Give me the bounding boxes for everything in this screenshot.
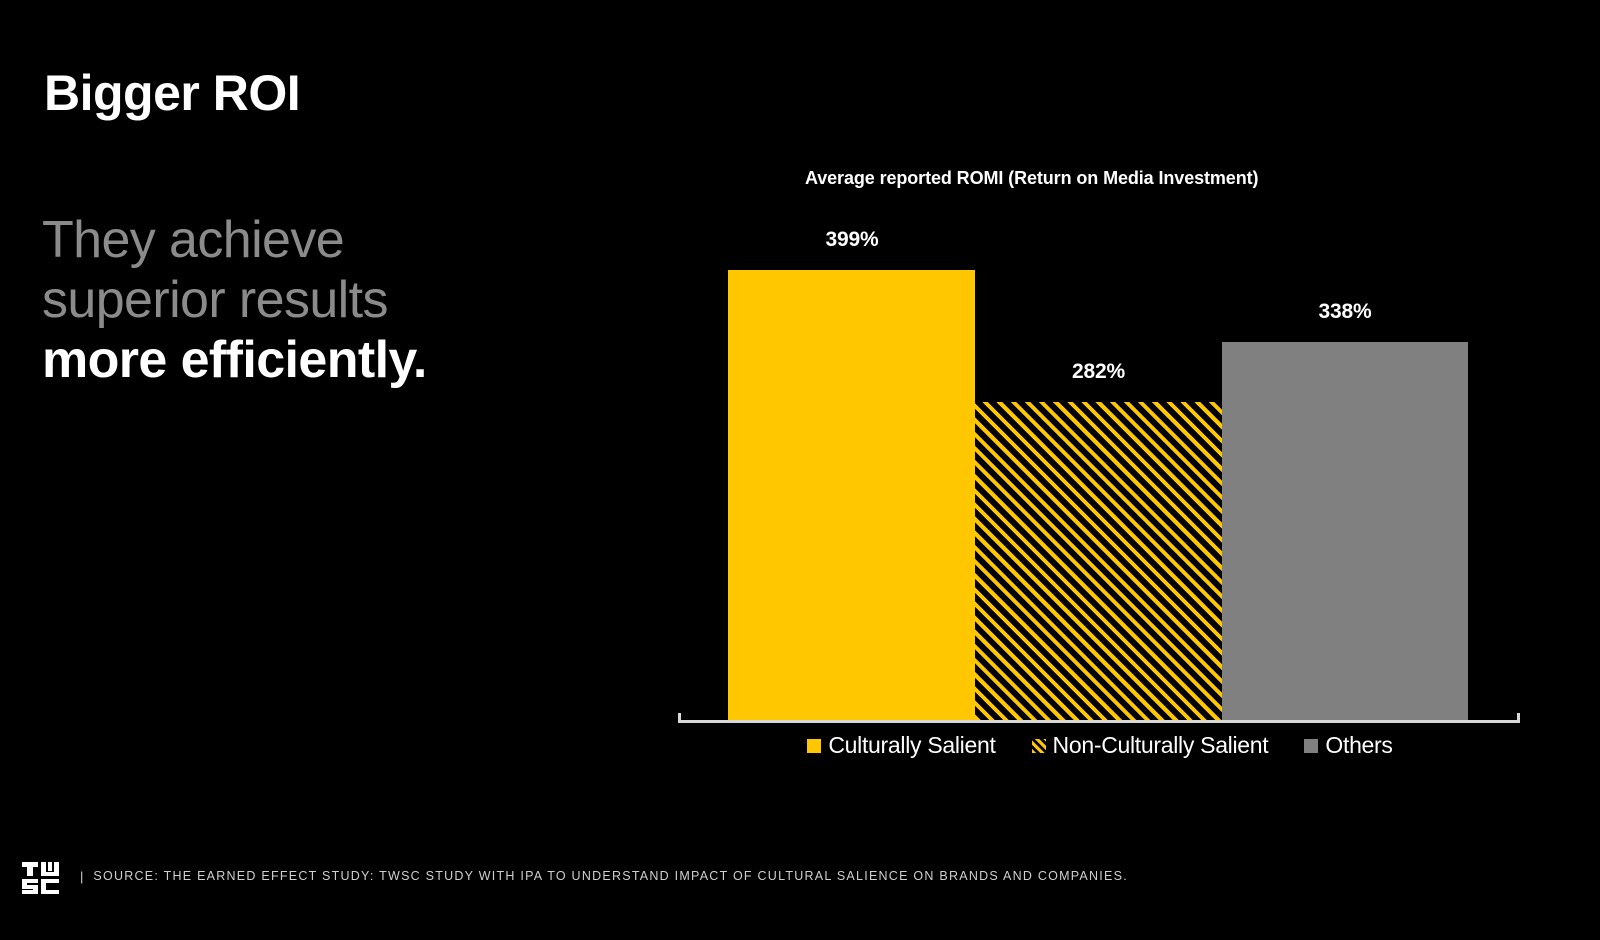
legend-label-culturally-salient: Culturally Salient (828, 732, 995, 759)
legend-label-non-culturally-salient: Non-Culturally Salient (1053, 732, 1269, 759)
bar-non-culturally-salient[interactable] (975, 402, 1222, 720)
axis-tick-right (1517, 713, 1520, 723)
subheadline: They achieve superior results more effic… (42, 210, 427, 390)
chart-baseline-axis (678, 720, 1520, 723)
solid-yellow-swatch-icon (807, 739, 821, 753)
subheadline-period: . (413, 331, 427, 389)
bar-culturally-salient[interactable] (728, 270, 975, 720)
legend-label-others: Others (1325, 732, 1392, 759)
legend-item-non-culturally-salient[interactable]: Non-Culturally Salient (1032, 732, 1269, 759)
chart-legend: Culturally Salient Non-Culturally Salien… (660, 732, 1540, 759)
subheadline-line-3: more efficiently. (42, 330, 427, 390)
bar-chart: Average reported ROMI (Return on Media I… (660, 150, 1540, 770)
footer-separator: | (80, 869, 83, 884)
footer: | SOURCE: THE EARNED EFFECT STUDY: TWSC … (18, 854, 1128, 898)
bar-label-non-culturally-salient: 282% (975, 360, 1222, 384)
slide-root: Bigger ROI They achieve superior results… (0, 0, 1600, 940)
solid-gray-swatch-icon (1304, 739, 1318, 753)
axis-tick-left (678, 713, 681, 723)
subheadline-line-2: superior results (42, 270, 427, 330)
chart-plot-area: 399% 282% 338% (660, 150, 1540, 720)
subheadline-accent: more efficiently (42, 331, 413, 389)
hatched-yellow-swatch-icon (1032, 739, 1046, 753)
bar-label-culturally-salient: 399% (728, 228, 976, 252)
bar-others[interactable] (1222, 342, 1468, 720)
page-title: Bigger ROI (44, 66, 300, 121)
subheadline-line-1: They achieve (42, 210, 427, 270)
twsc-logo-icon (18, 854, 62, 898)
legend-item-others[interactable]: Others (1304, 732, 1392, 759)
legend-item-culturally-salient[interactable]: Culturally Salient (807, 732, 995, 759)
bar-label-others: 338% (1222, 300, 1468, 324)
source-note: SOURCE: THE EARNED EFFECT STUDY: TWSC ST… (93, 869, 1128, 883)
